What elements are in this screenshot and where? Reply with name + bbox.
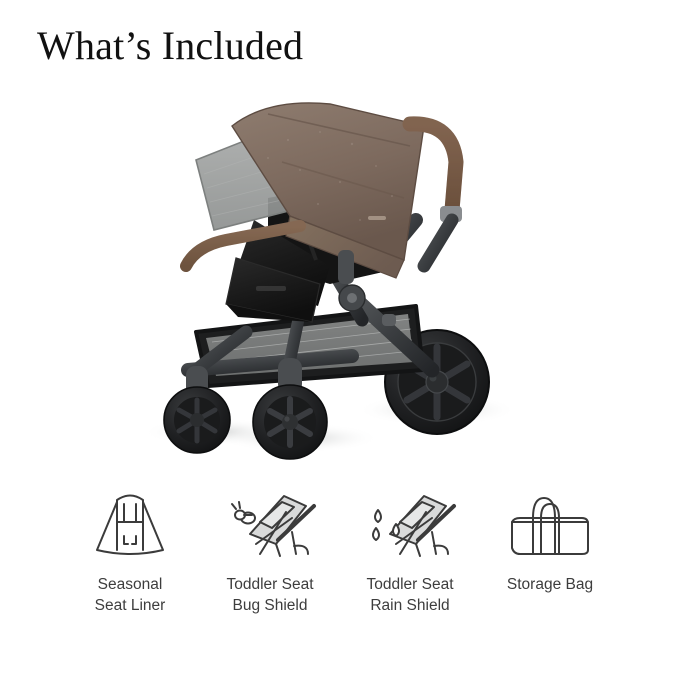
product-included-panel: What’s Included [0, 0, 679, 679]
included-item-label: Storage Bag [507, 574, 593, 595]
included-item-label: Toddler Seat Bug Shield [226, 574, 313, 616]
product-hero-image [0, 70, 679, 470]
included-item-label: Toddler Seat Rain Shield [366, 574, 453, 616]
rain-shield-icon [360, 488, 460, 560]
included-item-seat-liner: Seasonal Seat Liner [60, 488, 200, 616]
storage-bag-icon [500, 488, 600, 560]
canopy-logo-tab [368, 216, 386, 220]
brake-pedal [382, 314, 396, 326]
stroller-illustration [0, 70, 679, 470]
bug-shield-icon [220, 488, 320, 560]
included-item-label: Seasonal Seat Liner [95, 574, 166, 616]
included-item-rain-shield: Toddler Seat Rain Shield [340, 488, 480, 616]
brand-logo [256, 286, 286, 291]
included-item-bug-shield: Toddler Seat Bug Shield [200, 488, 340, 616]
seat-liner-icon [87, 488, 173, 560]
included-item-storage-bag: Storage Bag [480, 488, 620, 595]
page-title: What’s Included [37, 22, 303, 69]
included-items-row: Seasonal Seat Liner [60, 488, 620, 628]
